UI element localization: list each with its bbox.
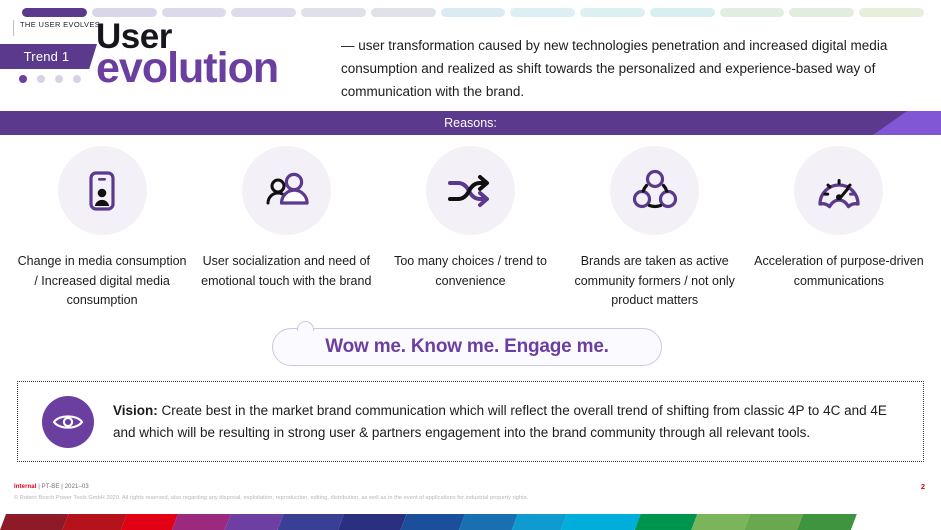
- supergraphic-band-13: [691, 514, 750, 530]
- reason-item-4: Brands are taken as active community for…: [563, 146, 747, 311]
- supergraphic-band-3: [121, 514, 178, 530]
- supergraphic-band-15: [797, 514, 857, 530]
- supergraphic-band-9: [459, 514, 518, 530]
- reason-caption: Too many choices / trend to convenience: [385, 252, 557, 291]
- progress-segment-7[interactable]: [441, 8, 506, 17]
- supergraphic-band-10: [512, 514, 567, 530]
- reason-item-1: Change in media consumption / Increased …: [10, 146, 194, 311]
- reason-item-2: User socialization and need of emotional…: [194, 146, 378, 311]
- progress-bar: [22, 8, 924, 17]
- reason-caption: Brands are taken as active community for…: [569, 252, 741, 311]
- progress-segment-1[interactable]: [22, 8, 87, 17]
- progress-segment-3[interactable]: [162, 8, 227, 17]
- reasons-band-label: Reasons:: [0, 111, 941, 135]
- reasons-band: Reasons:: [0, 111, 941, 135]
- supergraphic-band-4: [172, 514, 231, 530]
- mobile-user-icon: [58, 146, 147, 235]
- quote-bubble: Wow me. Know me. Engage me.: [272, 328, 662, 366]
- eyebrow-label: THE USER EVOLVES: [20, 19, 100, 31]
- progress-segment-11[interactable]: [720, 8, 785, 17]
- vision-body: Create best in the market brand communic…: [113, 403, 887, 440]
- progress-segment-10[interactable]: [650, 8, 715, 17]
- intro-paragraph: — user transformation caused by new tech…: [341, 34, 897, 103]
- vision-label: Vision:: [113, 403, 158, 418]
- eyebrow-divider: [13, 20, 14, 36]
- bosch-supergraphic: [0, 514, 941, 530]
- trend-dot-3[interactable]: [55, 75, 63, 83]
- reason-caption: Acceleration of purpose-driven communica…: [753, 252, 925, 291]
- reason-item-3: Too many choices / trend to convenience: [378, 146, 562, 311]
- footer-classification: Internal: [14, 484, 36, 490]
- progress-segment-12[interactable]: [789, 8, 854, 17]
- progress-segment-5[interactable]: [301, 8, 366, 17]
- reason-caption: User socialization and need of emotional…: [200, 252, 372, 291]
- vision-box: Vision: Create best in the market brand …: [17, 381, 924, 462]
- page-number: 2: [921, 482, 925, 491]
- progress-segment-8[interactable]: [510, 8, 575, 17]
- reason-caption: Change in media consumption / Increased …: [16, 252, 188, 311]
- eyebrow-group: THE USER EVOLVES: [13, 19, 100, 36]
- footer-meta: | PT-BE | 2021–03: [36, 484, 88, 490]
- trend-dots[interactable]: [19, 75, 81, 83]
- supergraphic-band-1: [0, 514, 68, 530]
- footer-classification-line: Internal | PT-BE | 2021–03: [14, 482, 528, 492]
- reasons-row: Change in media consumption / Increased …: [10, 146, 931, 311]
- quote-text: Wow me. Know me. Engage me.: [325, 336, 609, 358]
- community-network-icon: [610, 146, 699, 235]
- slide-root: THE USER EVOLVES Trend 1 User evolution …: [0, 0, 941, 530]
- supergraphic-band-7: [338, 514, 406, 530]
- reason-item-5: Acceleration of purpose-driven communica…: [747, 146, 931, 311]
- supergraphic-band-8: [400, 514, 465, 530]
- trend-badge[interactable]: Trend 1: [0, 44, 97, 69]
- supergraphic-band-12: [635, 514, 698, 530]
- bubble-tail: [297, 321, 314, 331]
- supergraphic-band-6: [278, 514, 344, 530]
- footer-copyright: © Robert Bosch Power Tools GmbH 2020. Al…: [14, 493, 528, 503]
- speedometer-icon: [794, 146, 883, 235]
- trend-badge-label: Trend 1: [24, 49, 74, 64]
- progress-segment-13[interactable]: [859, 8, 924, 17]
- progress-segment-9[interactable]: [580, 8, 645, 17]
- eye-icon: [42, 396, 94, 448]
- trend-dot-1[interactable]: [19, 75, 27, 83]
- supergraphic-band-11: [561, 514, 641, 530]
- page-title-line2: evolution: [96, 50, 278, 87]
- progress-segment-4[interactable]: [231, 8, 296, 17]
- progress-segment-6[interactable]: [371, 8, 436, 17]
- progress-segment-2[interactable]: [92, 8, 157, 17]
- page-title: User evolution: [96, 22, 278, 87]
- two-users-icon: [242, 146, 331, 235]
- supergraphic-band-14: [744, 514, 803, 530]
- supergraphic-band-5: [225, 514, 284, 530]
- supergraphic-band-2: [62, 514, 127, 530]
- footer: Internal | PT-BE | 2021–03 © Robert Bosc…: [14, 482, 528, 503]
- trend-dot-2[interactable]: [37, 75, 45, 83]
- trend-dot-4[interactable]: [73, 75, 81, 83]
- shuffle-arrows-icon: [426, 146, 515, 235]
- vision-text: Vision: Create best in the market brand …: [113, 400, 903, 444]
